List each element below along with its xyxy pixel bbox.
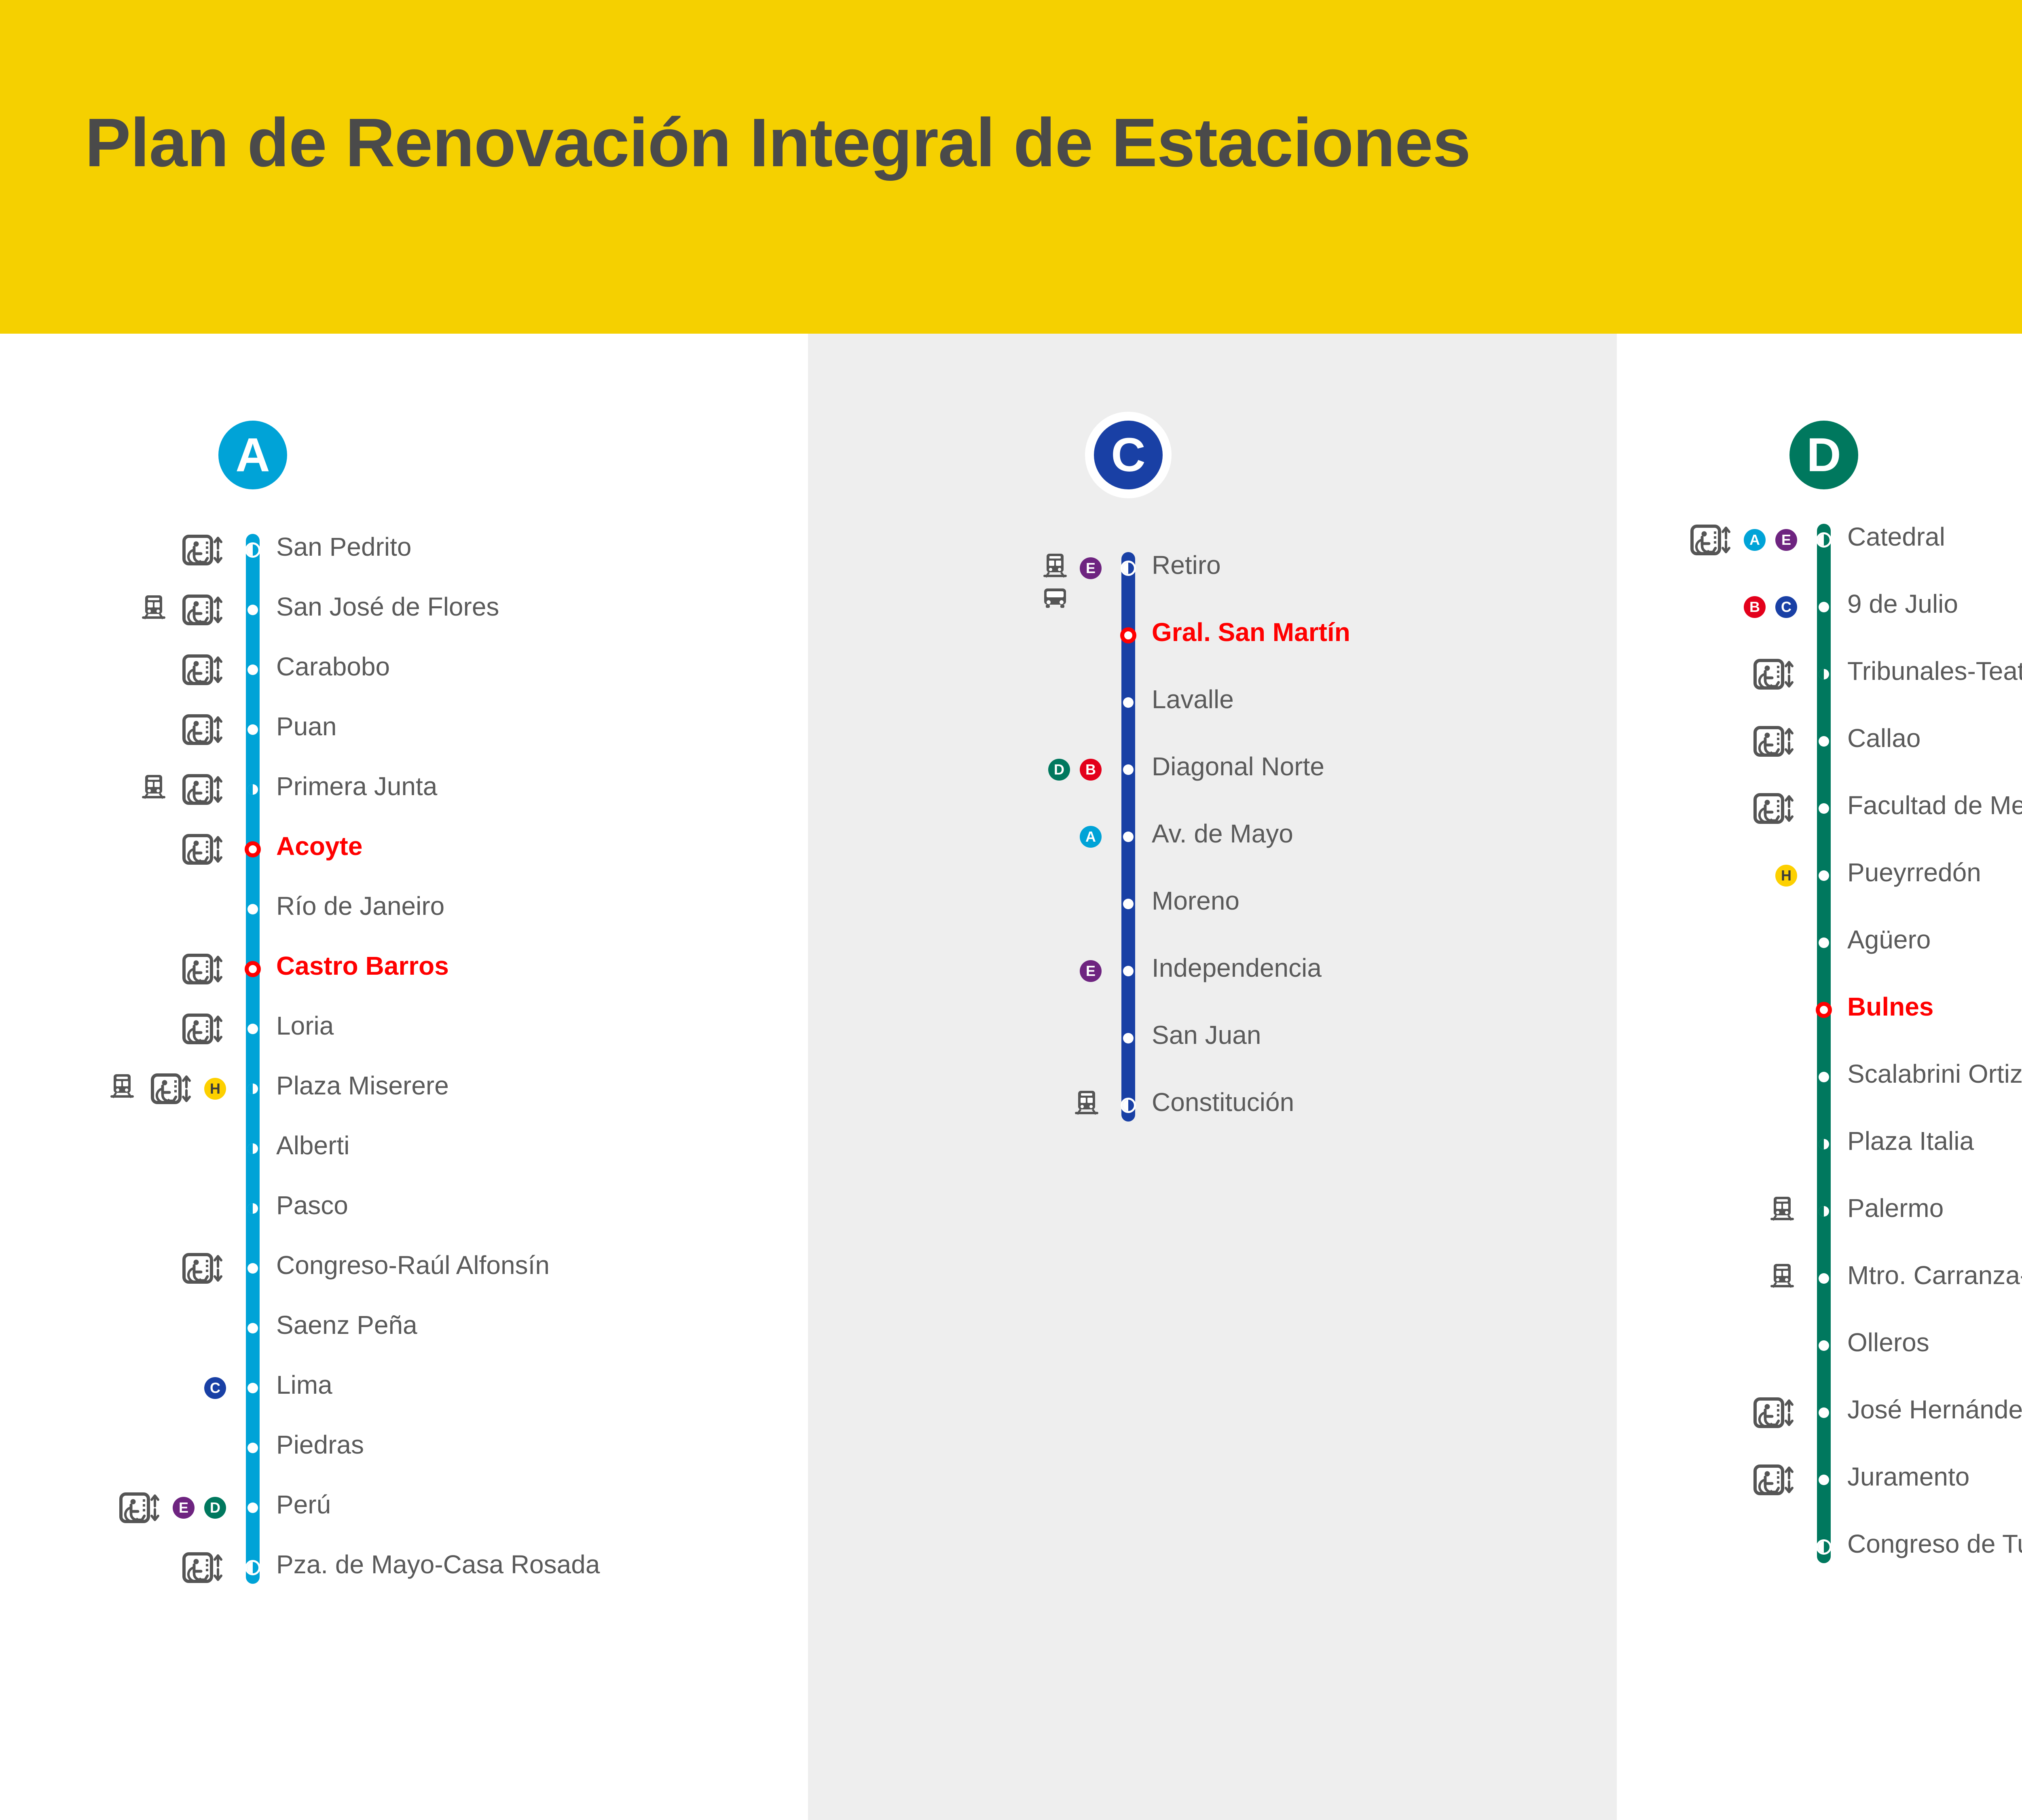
- subte-renovation-plan-page: Plan de Renovación Integral de Estacione…: [0, 0, 2022, 1820]
- accessibility-elevator-icon: [178, 773, 226, 806]
- station-marker-terminal: [245, 1560, 260, 1575]
- station-marker: [1819, 602, 1829, 612]
- station-name: Lavalle: [1152, 686, 1234, 712]
- station-marker: [1819, 1340, 1829, 1351]
- station-name: Saenz Peña: [276, 1312, 417, 1338]
- station-marker-under-renovation: [1120, 627, 1136, 643]
- station-name: Plaza Miserere: [276, 1073, 449, 1098]
- connection-badge-H[interactable]: H: [204, 1078, 226, 1100]
- station-name: Callao: [1847, 725, 1920, 751]
- station-marker: [1123, 966, 1134, 976]
- station-marker-under-renovation: [1816, 1002, 1832, 1018]
- station-name: Acoyte: [276, 833, 362, 859]
- station-marker: [247, 1323, 258, 1333]
- station-marker: [1819, 1407, 1829, 1418]
- station-marker: [1123, 899, 1134, 909]
- station-marker: [247, 904, 258, 914]
- station-marker: [247, 665, 258, 675]
- station-marker-combinacion: [247, 784, 258, 795]
- connection-badge-E[interactable]: E: [1080, 557, 1102, 579]
- station-name: Constitución: [1152, 1089, 1294, 1115]
- station-name: Lima: [276, 1372, 332, 1398]
- line-badge-A[interactable]: A: [218, 421, 287, 489]
- station-name: Castro Barros: [276, 953, 449, 979]
- station-name: Independencia: [1152, 955, 1322, 981]
- station-name: Piedras: [276, 1432, 364, 1458]
- station-marker: [247, 724, 258, 735]
- station-name: Bulnes: [1847, 994, 1933, 1020]
- station-name: San Juan: [1152, 1022, 1261, 1048]
- station-marker-terminal: [245, 542, 260, 558]
- station-marker-terminal: [1816, 1539, 1832, 1555]
- station-marker: [247, 1503, 258, 1513]
- page-title: Plan de Renovación Integral de Estacione…: [85, 103, 1470, 182]
- station-name: Tribunales-Teatro Colón: [1847, 658, 2022, 684]
- station-name: San Pedrito: [276, 534, 411, 560]
- station-name: Plaza Italia: [1847, 1128, 1974, 1154]
- accessibility-elevator-icon: [178, 534, 226, 566]
- station-name: Pasco: [276, 1192, 348, 1218]
- station-marker-terminal: [1121, 561, 1136, 576]
- station-marker-combinacion: [247, 1143, 258, 1154]
- station-marker-combinacion: [1819, 669, 1829, 679]
- transfer-train-icon: [1767, 1195, 1797, 1223]
- connection-badge-A[interactable]: A: [1744, 529, 1766, 551]
- station-marker-combinacion: [1819, 1206, 1829, 1217]
- transfer-train-icon: [1040, 552, 1070, 580]
- station-marker: [1819, 870, 1829, 881]
- connection-badge-H[interactable]: H: [1775, 865, 1797, 887]
- station-marker: [247, 1263, 258, 1274]
- station-name: Mtro. Carranza-M. Abuelo: [1847, 1262, 2022, 1288]
- station-marker-combinacion: [1819, 1139, 1829, 1149]
- line-badge-C[interactable]: C: [1094, 421, 1163, 489]
- station-marker-under-renovation: [245, 841, 261, 857]
- station-name: Olleros: [1847, 1329, 1929, 1355]
- accessibility-elevator-icon: [178, 1013, 226, 1045]
- station-name: Loria: [276, 1013, 334, 1039]
- accessibility-elevator-icon: [178, 833, 226, 866]
- station-marker: [1819, 938, 1829, 948]
- accessibility-elevator-icon: [178, 953, 226, 985]
- station-marker-under-renovation: [245, 961, 261, 977]
- accessibility-elevator-icon: [178, 594, 226, 626]
- connection-badge-B[interactable]: B: [1080, 759, 1102, 781]
- accessibility-elevator-icon: [1749, 725, 1797, 758]
- transfer-bus-icon: [1040, 584, 1070, 612]
- station-marker-terminal: [1816, 532, 1832, 548]
- station-name: José Hernández: [1847, 1397, 2022, 1422]
- page-header: Plan de Renovación Integral de Estacione…: [0, 0, 2022, 334]
- station-name: Facultad de Medicina: [1847, 792, 2022, 818]
- station-marker: [1123, 764, 1134, 775]
- station-marker: [1819, 1273, 1829, 1284]
- accessibility-elevator-icon: [147, 1073, 195, 1105]
- accessibility-elevator-icon: [178, 654, 226, 686]
- station-name: Congreso de Tucumán: [1847, 1531, 2022, 1557]
- accessibility-elevator-icon: [178, 713, 226, 746]
- accessibility-elevator-icon: [178, 1551, 226, 1584]
- station-marker: [247, 605, 258, 615]
- accessibility-elevator-icon: [1749, 1397, 1797, 1429]
- station-name: Congreso-Raúl Alfonsín: [276, 1252, 550, 1278]
- transfer-train-icon: [139, 773, 169, 802]
- accessibility-elevator-icon: [1749, 658, 1797, 690]
- station-marker: [1123, 832, 1134, 842]
- station-marker: [247, 1383, 258, 1393]
- transfer-train-icon: [1072, 1089, 1102, 1117]
- station-marker: [1819, 1072, 1829, 1082]
- station-name: Puan: [276, 713, 336, 739]
- accessibility-elevator-icon: [1686, 524, 1734, 556]
- station-marker-combinacion: [247, 1203, 258, 1214]
- station-name: Av. de Mayo: [1152, 821, 1293, 847]
- transfer-train-icon: [1767, 1262, 1797, 1291]
- line-badge-D[interactable]: D: [1789, 421, 1858, 489]
- station-name: Río de Janeiro: [276, 893, 444, 919]
- connection-badge-E[interactable]: E: [1775, 529, 1797, 551]
- transfer-train-icon: [107, 1073, 137, 1101]
- line-spine-A: [246, 534, 260, 1584]
- station-name: Carabobo: [276, 654, 390, 679]
- station-name: Catedral: [1847, 524, 1945, 550]
- accessibility-elevator-icon: [1749, 1464, 1797, 1496]
- station-name: Juramento: [1847, 1464, 1969, 1490]
- connection-badge-A[interactable]: A: [1080, 826, 1102, 848]
- station-name: Pueyrredón: [1847, 859, 1981, 885]
- station-name: Scalabrini Ortiz: [1847, 1061, 2022, 1087]
- station-name: Agüero: [1847, 927, 1931, 952]
- connection-badge-D[interactable]: D: [204, 1497, 226, 1519]
- connection-badge-C[interactable]: C: [204, 1377, 226, 1399]
- station-name: Perú: [276, 1492, 331, 1517]
- connection-badge-E[interactable]: E: [1080, 960, 1102, 982]
- station-marker: [247, 1024, 258, 1034]
- station-marker: [1123, 1033, 1134, 1043]
- station-marker: [1819, 803, 1829, 814]
- station-marker-terminal: [1121, 1098, 1136, 1113]
- station-marker: [1819, 1475, 1829, 1485]
- accessibility-elevator-icon: [178, 1252, 226, 1285]
- station-marker-combinacion: [247, 1084, 258, 1094]
- station-name: Primera Junta: [276, 773, 437, 799]
- station-name: Moreno: [1152, 888, 1239, 914]
- connection-badge-E[interactable]: E: [173, 1497, 195, 1519]
- connection-badge-B[interactable]: B: [1744, 596, 1766, 618]
- station-name: Alberti: [276, 1132, 349, 1158]
- transfer-train-icon: [139, 594, 169, 622]
- station-marker: [1819, 736, 1829, 747]
- station-name: Gral. San Martín: [1152, 619, 1350, 645]
- station-marker: [1123, 697, 1134, 708]
- station-name: Palermo: [1847, 1195, 1944, 1221]
- station-name: San José de Flores: [276, 594, 499, 620]
- accessibility-elevator-icon: [115, 1492, 163, 1524]
- accessibility-elevator-icon: [1749, 792, 1797, 825]
- station-name: Diagonal Norte: [1152, 753, 1324, 779]
- station-name: 9 de Julio: [1847, 591, 1958, 617]
- connection-badge-C[interactable]: C: [1775, 596, 1797, 618]
- station-name: Retiro: [1152, 552, 1221, 578]
- connection-badge-D[interactable]: D: [1048, 759, 1070, 781]
- station-marker: [247, 1443, 258, 1453]
- station-name: Pza. de Mayo-Casa Rosada: [276, 1551, 600, 1577]
